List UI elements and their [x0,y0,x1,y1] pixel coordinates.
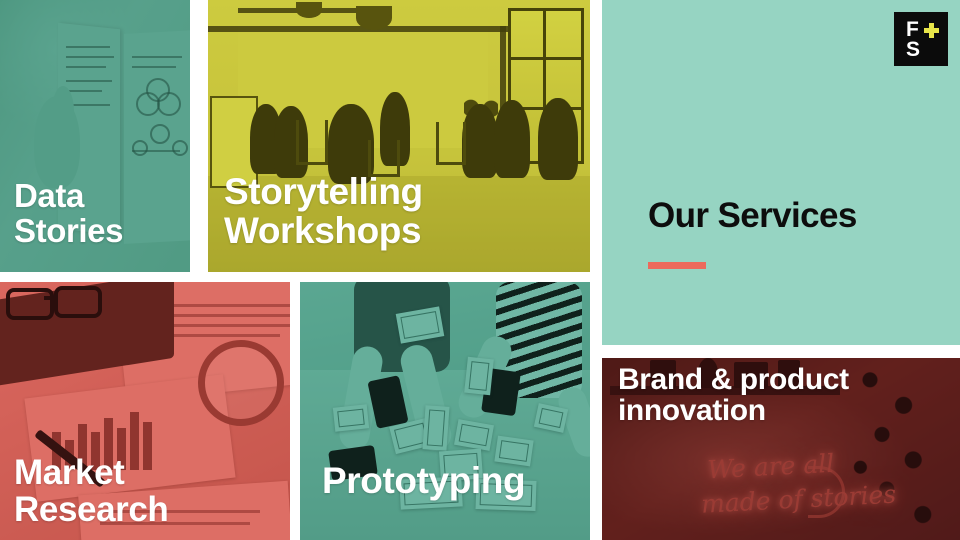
service-tile-storytelling[interactable]: Storytelling Workshops [208,0,590,272]
duotone-tint [300,282,590,540]
service-tile-prototyping[interactable]: Prototyping [300,282,590,540]
title-underline-rule [648,262,706,269]
plus-icon [924,23,939,38]
service-tile-label: Data Stories [14,179,182,248]
service-tile-label: Market Research [14,455,282,528]
services-slide: Data Stories [0,0,960,540]
service-tile-market-research[interactable]: Market Research [0,282,290,540]
page-title: Our Services [648,196,857,236]
service-tile-data-stories[interactable]: Data Stories [0,0,190,272]
service-tile-label: Prototyping [322,462,582,500]
service-tile-label: Brand & product innovation [618,364,952,426]
logo-letter-f: F [906,19,919,40]
service-tile-label: Storytelling Workshops [224,173,582,250]
logo-letter-s: S [906,39,920,60]
fs-plus-logo[interactable]: F S [894,12,948,66]
photo-paper-prototyping [300,282,590,540]
service-tile-brand-innovation[interactable]: We are all made of stories Brand & produ… [602,358,960,540]
